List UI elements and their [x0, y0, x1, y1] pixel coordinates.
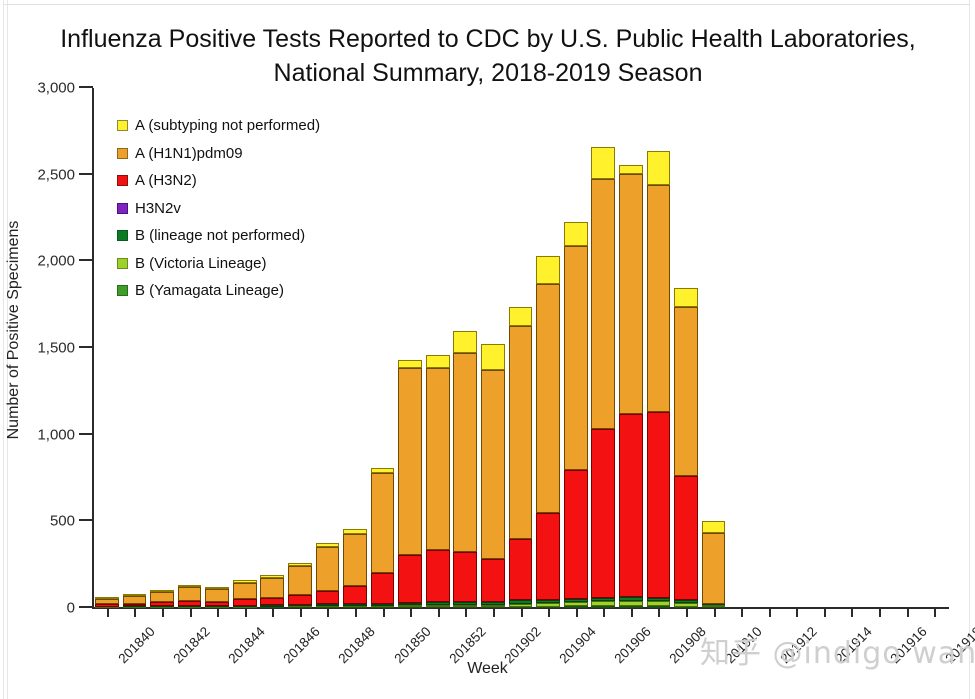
- bar-column: [260, 575, 284, 608]
- bar-segment: [95, 599, 119, 604]
- bar-column: [343, 529, 367, 608]
- bar-column: [398, 360, 422, 608]
- y-axis-tick-label: 0: [67, 600, 75, 617]
- bar-segment: [591, 429, 615, 598]
- bar-segment: [371, 573, 395, 603]
- bar-segment: [260, 598, 284, 605]
- bar-segment: [702, 533, 726, 603]
- legend-swatch-icon: [117, 258, 128, 269]
- bar-segment: [564, 602, 588, 606]
- bar-column: [150, 590, 174, 608]
- x-axis-tick: [548, 608, 550, 617]
- x-axis-tick: [741, 608, 743, 617]
- bar-segment: [509, 604, 533, 607]
- bar-segment: [288, 563, 312, 566]
- legend-item[interactable]: A (H3N2): [117, 167, 320, 195]
- bar-segment: [123, 594, 147, 596]
- y-axis-tick-label: 2,500: [37, 166, 75, 183]
- x-axis-tick: [217, 608, 219, 617]
- x-axis-tick: [190, 608, 192, 617]
- x-axis-tick: [851, 608, 853, 617]
- bar-segment: [481, 602, 505, 605]
- bar-segment: [647, 606, 671, 608]
- bar-segment: [509, 326, 533, 539]
- bar-column: [95, 598, 119, 608]
- bar-segment: [123, 604, 147, 607]
- bar-segment: [371, 468, 395, 473]
- bar-segment: [564, 599, 588, 602]
- bar-segment: [481, 344, 505, 370]
- x-axis-tick: [327, 608, 329, 617]
- bar-segment: [647, 412, 671, 597]
- bar-segment: [619, 601, 643, 606]
- bar-segment: [288, 566, 312, 595]
- bar-segment: [205, 587, 229, 589]
- bar-segment: [233, 599, 257, 606]
- legend-item-label: B (Victoria Lineage): [135, 255, 266, 272]
- bar-column: [619, 165, 643, 608]
- legend-item[interactable]: B (lineage not performed): [117, 222, 320, 250]
- bar-segment: [178, 585, 202, 587]
- y-axis-tick: [79, 433, 93, 435]
- bar-segment: [150, 590, 174, 592]
- x-axis-tick: [686, 608, 688, 617]
- y-axis-tick: [79, 86, 93, 88]
- bar-segment: [453, 602, 477, 605]
- bar-column: [702, 521, 726, 608]
- bar-segment: [178, 601, 202, 606]
- legend-swatch-icon: [117, 230, 128, 241]
- legend-item-label: A (H3N2): [135, 172, 197, 189]
- y-axis-title: Number of Positive Specimens: [5, 221, 23, 440]
- legend-item[interactable]: B (Yamagata Lineage): [117, 277, 320, 305]
- bar-column: [564, 222, 588, 608]
- bar-segment: [564, 246, 588, 470]
- bar-column: [536, 256, 560, 608]
- bar-segment: [343, 529, 367, 534]
- legend-swatch-icon: [117, 120, 128, 131]
- bar-segment: [674, 288, 698, 307]
- x-axis-tick: [521, 608, 523, 617]
- bar-column: [178, 585, 202, 608]
- bar-segment: [398, 605, 422, 607]
- bar-segment: [619, 597, 643, 601]
- x-axis-tick: [493, 608, 495, 617]
- bar-segment: [426, 550, 450, 602]
- bar-segment: [371, 604, 395, 606]
- bar-segment: [536, 513, 560, 600]
- bar-column: [481, 344, 505, 608]
- x-axis-tick: [824, 608, 826, 617]
- bar-segment: [536, 256, 560, 284]
- influenza-positive-tests-chart: Influenza Positive Tests Reported to CDC…: [0, 0, 975, 699]
- x-axis-tick: [300, 608, 302, 617]
- x-axis-tick: [631, 608, 633, 617]
- x-axis-tick: [658, 608, 660, 617]
- bar-column: [453, 331, 477, 608]
- bar-segment: [453, 331, 477, 353]
- legend-item-label: B (lineage not performed): [135, 227, 305, 244]
- y-axis-tick: [79, 173, 93, 175]
- bar-segment: [150, 592, 174, 602]
- x-axis-tick: [603, 608, 605, 617]
- bar-segment: [398, 360, 422, 368]
- x-axis-tick: [272, 608, 274, 617]
- bar-segment: [343, 534, 367, 586]
- x-axis-tick: [355, 608, 357, 617]
- bar-segment: [619, 606, 643, 608]
- bar-segment: [564, 222, 588, 246]
- bar-segment: [316, 604, 340, 606]
- bar-segment: [674, 307, 698, 476]
- legend-item[interactable]: A (subtyping not performed): [117, 112, 320, 140]
- bar-segment: [647, 598, 671, 602]
- legend-item[interactable]: B (Victoria Lineage): [117, 250, 320, 278]
- bar-segment: [316, 543, 340, 547]
- bar-column: [123, 594, 147, 608]
- bar-column: [316, 543, 340, 608]
- y-axis-tick: [79, 519, 93, 521]
- x-axis-tick: [934, 608, 936, 617]
- legend-item[interactable]: H3N2v: [117, 195, 320, 223]
- bar-segment: [426, 605, 450, 607]
- bar-segment: [702, 521, 726, 533]
- bar-segment: [426, 602, 450, 604]
- bar-segment: [674, 600, 698, 603]
- bar-segment: [178, 587, 202, 601]
- bar-segment: [536, 284, 560, 514]
- bar-segment: [316, 547, 340, 590]
- bar-segment: [509, 307, 533, 326]
- bar-segment: [426, 368, 450, 550]
- bar-segment: [674, 603, 698, 607]
- legend-swatch-icon: [117, 285, 128, 296]
- bar-segment: [260, 578, 284, 598]
- x-axis-tick: [796, 608, 798, 617]
- bar-segment: [702, 605, 726, 607]
- bar-segment: [343, 586, 367, 604]
- legend-item-label: H3N2v: [135, 200, 181, 217]
- bar-segment: [619, 165, 643, 175]
- bar-segment: [150, 602, 174, 606]
- bar-segment: [205, 602, 229, 606]
- bar-column: [371, 468, 395, 608]
- x-axis-tick: [769, 608, 771, 617]
- bar-segment: [260, 575, 284, 578]
- y-axis-tick-label: 1,500: [37, 340, 75, 357]
- chart-title: Influenza Positive Tests Reported to CDC…: [18, 22, 958, 90]
- bar-segment: [316, 591, 340, 605]
- bar-segment: [509, 600, 533, 603]
- bar-segment: [536, 600, 560, 603]
- bar-segment: [453, 552, 477, 602]
- x-axis-tick: [107, 608, 109, 617]
- chart-title-line-1: Influenza Positive Tests Reported to CDC…: [60, 25, 916, 53]
- bar-segment: [343, 604, 367, 606]
- legend-item-label: A (H1N1)pdm09: [135, 145, 243, 162]
- bar-segment: [591, 179, 615, 429]
- bar-segment: [564, 470, 588, 599]
- bar-column: [591, 147, 615, 608]
- x-axis-tick: [438, 608, 440, 617]
- legend-item-label: A (subtyping not performed): [135, 117, 320, 134]
- bar-segment: [536, 603, 560, 606]
- bar-segment: [619, 414, 643, 598]
- chart-title-line-2: National Summary, 2018-2019 Season: [18, 56, 958, 90]
- bar-segment: [426, 355, 450, 369]
- bar-segment: [481, 605, 505, 607]
- y-axis-tick-label: 3,000: [37, 80, 75, 97]
- bar-segment: [647, 601, 671, 606]
- x-axis-tick: [383, 608, 385, 617]
- bar-segment: [371, 473, 395, 574]
- chart-legend: A (subtyping not performed)A (H1N1)pdm09…: [117, 112, 320, 305]
- bar-segment: [453, 353, 477, 551]
- bar-segment: [481, 370, 505, 559]
- y-axis-tick-label: 1,000: [37, 426, 75, 443]
- bar-column: [509, 307, 533, 608]
- bar-column: [647, 151, 671, 608]
- x-axis-tick: [245, 608, 247, 617]
- x-axis-tick: [465, 608, 467, 617]
- x-axis-tick: [907, 608, 909, 617]
- bar-segment: [647, 151, 671, 185]
- bar-segment: [591, 147, 615, 179]
- bar-segment: [233, 580, 257, 582]
- bar-segment: [481, 559, 505, 601]
- bar-column: [426, 355, 450, 608]
- bar-segment: [647, 185, 671, 412]
- bar-segment: [591, 606, 615, 608]
- bar-segment: [398, 603, 422, 605]
- bar-segment: [233, 583, 257, 599]
- y-axis-tick: [79, 259, 93, 261]
- y-axis-tick-label: 2,000: [37, 253, 75, 270]
- bar-segment: [674, 476, 698, 600]
- legend-swatch-icon: [117, 203, 128, 214]
- bar-segment: [619, 174, 643, 413]
- legend-swatch-icon: [117, 175, 128, 186]
- bar-segment: [123, 596, 147, 604]
- bar-column: [288, 563, 312, 608]
- legend-item[interactable]: A (H1N1)pdm09: [117, 140, 320, 168]
- bar-segment: [591, 601, 615, 606]
- bar-segment: [398, 368, 422, 555]
- bar-segment: [288, 595, 312, 605]
- y-axis-tick: [79, 346, 93, 348]
- y-axis-tick: [79, 606, 93, 608]
- bar-column: [674, 288, 698, 608]
- bar-segment: [95, 604, 119, 606]
- x-axis-tick: [714, 608, 716, 617]
- x-axis-tick: [134, 608, 136, 617]
- bar-segment: [591, 598, 615, 602]
- bar-segment: [398, 555, 422, 603]
- bar-column: [233, 580, 257, 608]
- bar-segment: [205, 589, 229, 602]
- bar-segment: [509, 539, 533, 601]
- bar-segment: [95, 597, 119, 599]
- legend-item-label: B (Yamagata Lineage): [135, 282, 284, 299]
- bar-segment: [453, 605, 477, 607]
- bar-column: [205, 587, 229, 608]
- x-axis-tick: [162, 608, 164, 617]
- watermark: 知乎 @indigo wan: [700, 628, 975, 672]
- bar-segment: [702, 603, 726, 605]
- legend-swatch-icon: [117, 148, 128, 159]
- y-axis-tick-label: 500: [50, 513, 75, 530]
- x-axis-tick: [410, 608, 412, 617]
- x-axis-tick: [879, 608, 881, 617]
- x-axis-tick: [576, 608, 578, 617]
